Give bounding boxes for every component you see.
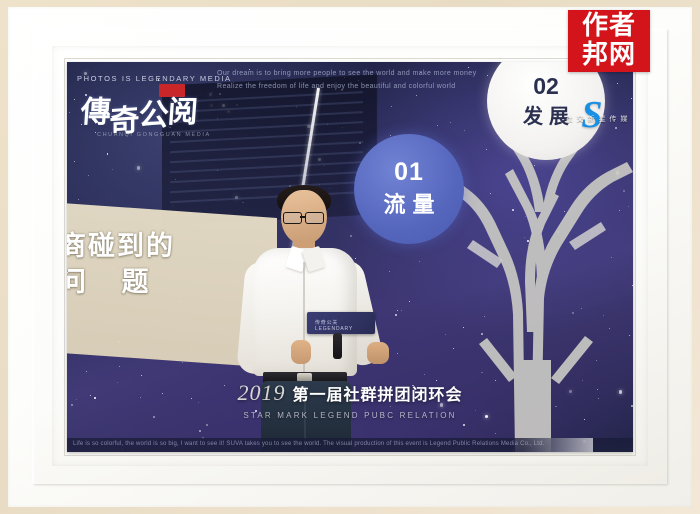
brand-subtitle: CHUANQI GONGGUAN MEDIA: [97, 132, 211, 138]
presenter-glasses-right: [305, 212, 324, 224]
presenter-right-hand: [367, 342, 389, 364]
section-02-number: 02: [533, 74, 559, 98]
brand-char-3: 公: [137, 90, 169, 134]
event-title-en: STAR MARK LEGEND PUBC RELATION: [67, 411, 633, 420]
event-year: 2019: [237, 380, 285, 405]
s-logo-caption: 社 交 新 星 传 媒: [537, 114, 633, 124]
presenter-glasses-bridge: [300, 216, 305, 218]
watermark-badge-line-2: 邦网: [582, 41, 636, 70]
brand-chinese-logo: 傳奇公阅: [79, 87, 202, 133]
ticker-highlight-fade: [523, 438, 593, 452]
watermark-badge-line-1: 作者: [582, 12, 636, 41]
beige-panel-line-2: 问 题: [67, 264, 259, 300]
beige-panel-text: 商碰到的 问 题: [67, 228, 259, 300]
conference-photograph: 商碰到的 问 题 PHOTOS IS LEGENDARY MEDIA: [67, 62, 633, 452]
beige-panel-line-1: 商碰到的: [67, 228, 259, 264]
watermark-badge: 作者 邦网: [568, 10, 650, 72]
microphone-body: [333, 333, 342, 359]
dream-tagline-line-2: Realize the freedom of life and enjoy th…: [217, 83, 456, 90]
dream-tagline-line-1: Our dream is to bring more people to see…: [217, 70, 477, 77]
brand-char-1: 傳: [80, 96, 111, 129]
brand-english-tagline: PHOTOS IS LEGENDARY MEDIA: [77, 74, 232, 83]
brand-char-4: 阅: [167, 96, 198, 129]
microphone-flag-text: 传奇公关 LEGENDARY: [315, 319, 375, 332]
event-title-block: 2019第一届社群拼团闭环会 STAR MARK LEGEND PUBC REL…: [67, 380, 633, 420]
ticker-text: Life is so colorful, the world is so big…: [73, 441, 545, 447]
section-01-number: 01: [394, 159, 424, 185]
picture-frame-outer: 商碰到的 问 题 PHOTOS IS LEGENDARY MEDIA: [0, 0, 700, 514]
event-title-cn: 第一届社群拼团闭环会: [292, 387, 462, 404]
microphone-flag: 传奇公关 LEGENDARY: [307, 312, 375, 334]
ticker-strip: Life is so colorful, the world is so big…: [67, 438, 633, 452]
presenter-glasses-left: [283, 212, 302, 224]
presenter-left-hand: [291, 340, 311, 364]
